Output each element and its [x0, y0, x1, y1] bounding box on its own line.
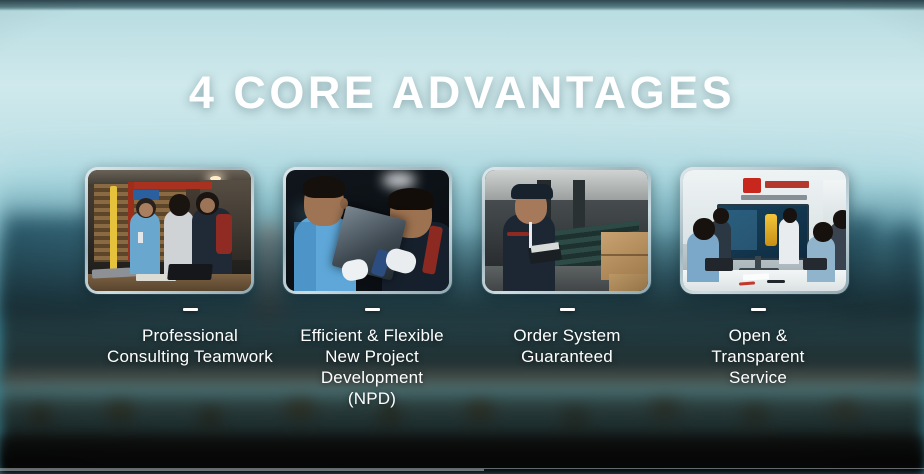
caption-dash-icon: [365, 308, 380, 311]
card-image-frame: [683, 170, 846, 291]
advantage-caption-label: Efficient & Flexible New Project Develop…: [272, 325, 472, 409]
caption-dash-icon: [560, 308, 575, 311]
card-image-frame: [485, 170, 648, 291]
photo-order-system: [485, 170, 648, 291]
advantage-card-efficient-flexible-npd[interactable]: [283, 167, 452, 294]
advantage-caption-efficient-flexible-npd: Efficient & Flexible New Project Develop…: [272, 308, 472, 409]
card-image-frame: [286, 170, 449, 291]
advantage-card-order-system-guaranteed[interactable]: [482, 167, 651, 294]
advantage-card-professional-consulting-teamwork[interactable]: [85, 167, 254, 294]
photo-new-project-development: [286, 170, 449, 291]
page-title: 4 CORE ADVANTAGES: [0, 70, 924, 115]
advantage-caption-row: Professional Consulting Teamwork Efficie…: [0, 308, 924, 428]
card-image-frame: [88, 170, 251, 291]
photo-open-transparent-service: [683, 170, 846, 291]
photo-consulting-teamwork: [88, 170, 251, 291]
slide-canvas: 4 CORE ADVANTAGES: [0, 0, 924, 474]
advantage-caption-order-system-guaranteed: Order System Guaranteed: [462, 308, 672, 367]
advantage-card-row: [85, 167, 849, 294]
company-logo-icon: [743, 178, 761, 193]
bottom-divider-segment: [0, 469, 484, 471]
advantage-caption-label: Order System Guaranteed: [462, 325, 672, 367]
advantage-caption-label: Open & Transparent Service: [668, 325, 848, 388]
advantage-card-open-transparent-service[interactable]: [680, 167, 849, 294]
caption-dash-icon: [751, 308, 766, 311]
caption-dash-icon: [183, 308, 198, 311]
advantage-caption-open-transparent-service: Open & Transparent Service: [668, 308, 848, 388]
